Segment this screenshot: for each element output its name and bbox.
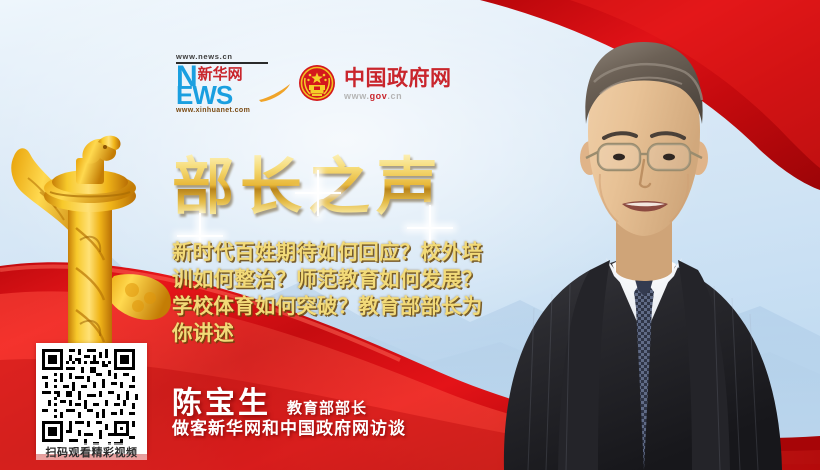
minister-voice-banner: www.news.cn N 新华网 EWS www.xinhuanet.com bbox=[0, 0, 820, 470]
xinhua-url-bottom: www.xinhuanet.com bbox=[176, 107, 276, 114]
guest-subtitle: 做客新华网和中国政府网访谈 bbox=[172, 414, 406, 439]
national-emblem-icon bbox=[298, 64, 336, 102]
description-text: 新时代百姓期待如何回应？校外培训如何整治？师范教育如何发展？学校体育如何突破？教… bbox=[172, 239, 494, 347]
china-gov-logo[interactable]: 中国政府网 www.gov.cn bbox=[298, 64, 452, 102]
gov-url: www.gov.cn bbox=[344, 91, 452, 101]
xinhua-chinese: 新华网 bbox=[198, 66, 243, 83]
xinhuanet-logo[interactable]: www.news.cn N 新华网 EWS www.xinhuanet.com bbox=[176, 52, 276, 114]
qr-code[interactable] bbox=[36, 343, 147, 454]
logo-row: www.news.cn N 新华网 EWS www.xinhuanet.com bbox=[176, 52, 452, 114]
page-title: 部长之声 bbox=[172, 152, 444, 222]
gov-chinese-label: 中国政府网 bbox=[344, 66, 452, 90]
qr-caption: 扫码观看精彩视频 bbox=[36, 443, 147, 460]
xinhua-swoosh-icon bbox=[258, 83, 292, 108]
guest-portrait bbox=[494, 8, 820, 470]
xinhua-wordmark-n: N bbox=[176, 65, 197, 89]
